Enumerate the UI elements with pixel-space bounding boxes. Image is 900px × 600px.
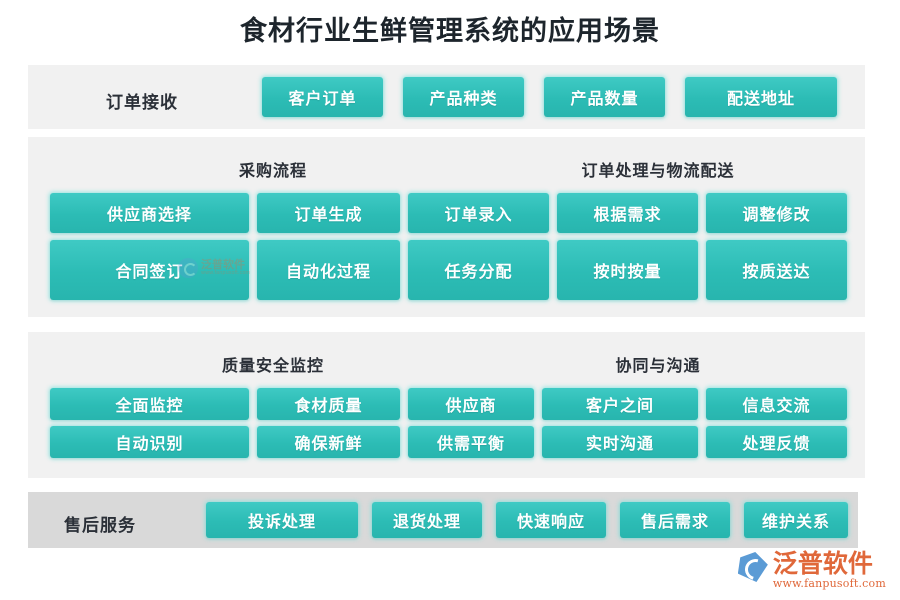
chip-on-time-on-quantity[interactable]: 按时按量 bbox=[557, 240, 698, 300]
chip-contract-signing[interactable]: 合同签订 bbox=[50, 240, 249, 300]
chip-task-assignment[interactable]: 任务分配 bbox=[408, 240, 549, 300]
section-aftersales: 售后服务 投诉处理 退货处理 快速响应 售后需求 维护关系 bbox=[28, 492, 858, 548]
section-label-order-receiving: 订单接收 bbox=[106, 88, 178, 113]
brand-url: www.fanpusoft.com bbox=[773, 577, 886, 590]
chip-supplier[interactable]: 供应商 bbox=[408, 388, 534, 420]
chip-supplier-selection[interactable]: 供应商选择 bbox=[50, 193, 249, 233]
application-scenario-diagram: 食材行业生鲜管理系统的应用场景 订单接收 客户订单 产品种类 产品数量 配送地址… bbox=[0, 0, 900, 600]
section-quality: 质量安全监控 协同与沟通 全面监控 食材质量 供应商 客户之间 信息交流 自动识… bbox=[28, 332, 865, 478]
chip-ensure-freshness[interactable]: 确保新鲜 bbox=[257, 426, 400, 458]
chip-maintain-relationship[interactable]: 维护关系 bbox=[744, 502, 848, 538]
brand-name: 泛普软件 bbox=[773, 550, 886, 577]
chip-product-category[interactable]: 产品种类 bbox=[403, 77, 524, 117]
chip-handle-feedback[interactable]: 处理反馈 bbox=[706, 426, 847, 458]
chip-adjust-modify[interactable]: 调整修改 bbox=[706, 193, 847, 233]
chip-product-quantity[interactable]: 产品数量 bbox=[544, 77, 665, 117]
page-title: 食材行业生鲜管理系统的应用场景 bbox=[0, 14, 900, 50]
chip-full-monitoring[interactable]: 全面监控 bbox=[50, 388, 249, 420]
section-procurement: 采购流程 订单处理与物流配送 供应商选择 订单生成 订单录入 根据需求 调整修改… bbox=[28, 137, 865, 317]
section-order-receiving: 订单接收 客户订单 产品种类 产品数量 配送地址 bbox=[28, 65, 865, 129]
chip-between-customers[interactable]: 客户之间 bbox=[542, 388, 698, 420]
group-heading-quality-safety: 质量安全监控 bbox=[128, 352, 418, 376]
brand-logo: 泛普软件 www.fanpusoft.com bbox=[738, 550, 886, 590]
chip-complaint-handling[interactable]: 投诉处理 bbox=[206, 502, 358, 538]
chip-order-entry[interactable]: 订单录入 bbox=[408, 193, 549, 233]
chip-aftersales-demand[interactable]: 售后需求 bbox=[620, 502, 730, 538]
chip-fast-response[interactable]: 快速响应 bbox=[496, 502, 606, 538]
chip-realtime-communication[interactable]: 实时沟通 bbox=[542, 426, 698, 458]
chip-quality-delivery[interactable]: 按质送达 bbox=[706, 240, 847, 300]
chip-delivery-address[interactable]: 配送地址 bbox=[685, 77, 837, 117]
chip-automation-process[interactable]: 自动化过程 bbox=[257, 240, 400, 300]
group-heading-collaboration: 协同与沟通 bbox=[458, 352, 858, 376]
brand-mark-icon bbox=[738, 552, 768, 582]
group-heading-procurement-process: 采购流程 bbox=[128, 157, 418, 181]
chip-information-exchange[interactable]: 信息交流 bbox=[706, 388, 847, 420]
chip-auto-recognition[interactable]: 自动识别 bbox=[50, 426, 249, 458]
section-label-aftersales: 售后服务 bbox=[64, 511, 136, 536]
chip-return-handling[interactable]: 退货处理 bbox=[372, 502, 482, 538]
chip-order-generation[interactable]: 订单生成 bbox=[257, 193, 400, 233]
chip-based-on-demand[interactable]: 根据需求 bbox=[557, 193, 698, 233]
chip-customer-order[interactable]: 客户订单 bbox=[262, 77, 383, 117]
chip-supply-demand-balance[interactable]: 供需平衡 bbox=[408, 426, 534, 458]
group-heading-order-logistics: 订单处理与物流配送 bbox=[458, 157, 858, 181]
chip-ingredient-quality[interactable]: 食材质量 bbox=[257, 388, 400, 420]
